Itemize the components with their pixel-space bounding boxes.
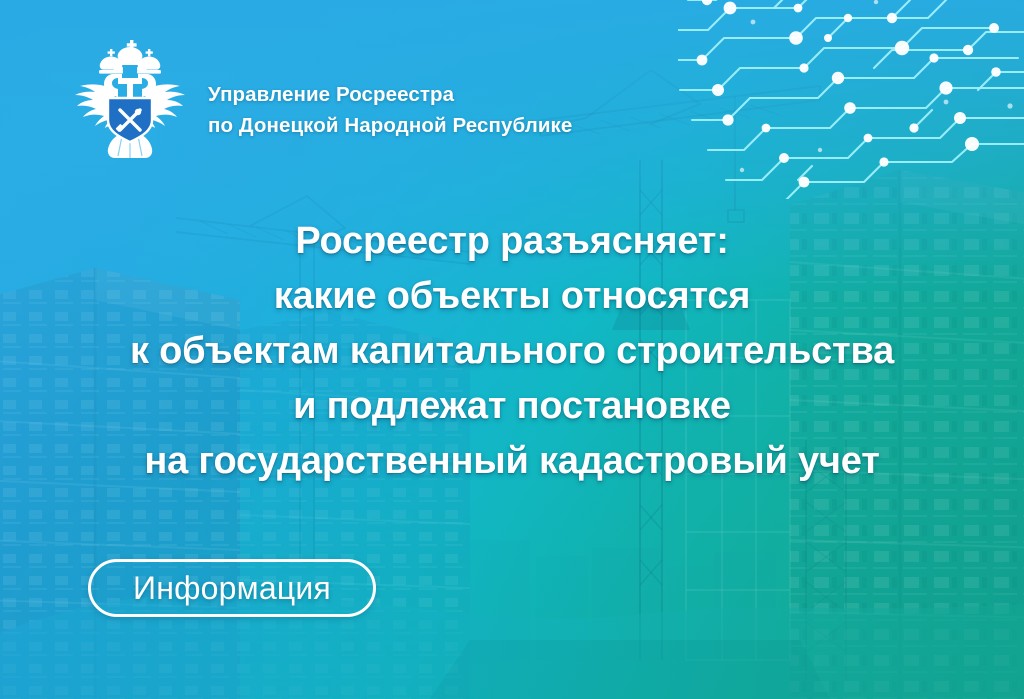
headline-text: Росреестр разъясняет: какие объекты отно…: [0, 214, 1024, 489]
information-button-label: Информация: [133, 572, 331, 604]
information-button[interactable]: Информация: [88, 559, 376, 617]
circuit-board-pattern: [678, 0, 1024, 199]
rosreestr-information-banner: Управление Росреестра по Донецкой Народн…: [0, 0, 1024, 699]
headline-line-2: какие объекты относятся: [34, 269, 990, 324]
org-line-2: по Донецкой Народной Республике: [208, 113, 572, 139]
headline-line-3: к объектам капитального строительства: [34, 324, 990, 379]
rosreestr-eagle-emblem-icon: [66, 34, 194, 160]
emblem-shield: [108, 98, 152, 142]
org-line-1: Управление Росреестра: [208, 82, 572, 108]
headline-line-5: на государственный кадастровый учет: [34, 434, 990, 489]
headline-line-1: Росреестр разъясняет:: [34, 214, 990, 269]
distant-skyline: [470, 540, 776, 660]
headline-line-4: и подлежат постановке: [34, 379, 990, 434]
crowns: [99, 40, 161, 74]
organization-logo-block: Управление Росреестра по Донецкой Народн…: [66, 34, 572, 160]
organization-name: Управление Росреестра по Донецкой Народн…: [208, 56, 572, 138]
